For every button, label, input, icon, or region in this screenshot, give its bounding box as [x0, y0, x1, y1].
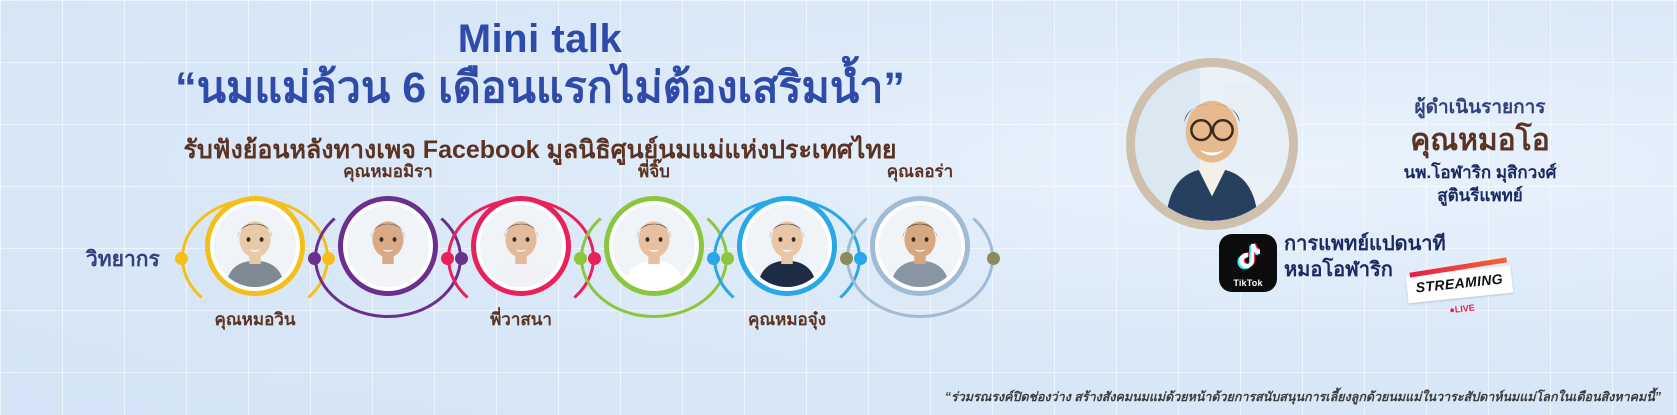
host-nickname: คุณหมอโอ: [1300, 124, 1660, 157]
streaming-badge: STREAMING ●LIVE: [1406, 266, 1513, 304]
title-line-1: Mini talk: [0, 18, 1080, 61]
host-photo-inner: [1135, 67, 1289, 221]
host-full-name: นพ.โอฬาริก มุสิกวงศ์: [1300, 162, 1660, 185]
connector-dot-right: [987, 252, 1000, 265]
connector-dot-left: [574, 252, 587, 265]
speaker-portrait-illustration: [613, 205, 695, 287]
speaker-avatar[interactable]: [338, 196, 438, 296]
title-line-2: “นมแม่ล้วน 6 เดือนแรกไม่ต้องเสริมน้ำ”: [0, 63, 1080, 114]
connector-dot-left: [175, 252, 188, 265]
speaker-avatar[interactable]: [471, 196, 571, 296]
speaker-portrait-illustration: [746, 205, 828, 287]
speaker-photo: [214, 205, 296, 287]
tiktok-icon[interactable]: TikTok: [1219, 234, 1277, 292]
speakers-row: คุณหมอวินคุณหมอมิราพี่วาสนาพี่จิ๊บคุณหมอ…: [0, 180, 1080, 345]
host-portrait-illustration: [1135, 67, 1289, 221]
connector-dot-left: [840, 252, 853, 265]
speaker-photo: [879, 205, 961, 287]
live-label: ●LIVE: [1409, 298, 1514, 319]
connector-dot-left: [707, 252, 720, 265]
speaker-node[interactable]: คุณลอร่า: [840, 180, 1000, 345]
speaker-portrait-illustration: [879, 205, 961, 287]
headline-block: Mini talk “นมแม่ล้วน 6 เดือนแรกไม่ต้องเส…: [0, 18, 1080, 170]
speaker-photo: [480, 205, 562, 287]
speaker-name: คุณลอร่า: [818, 158, 1022, 185]
speaker-photo: [746, 205, 828, 287]
connector-dot-left: [308, 252, 321, 265]
speaker-portrait-illustration: [214, 205, 296, 287]
footer-note: “ร่วมรณรงค์ปิดช่องว่าง สร้างสังคมนมแม่ด้…: [945, 387, 1661, 407]
tiktok-channel-line-1: การแพทย์แปดนาที: [1284, 232, 1446, 258]
speaker-photo: [613, 205, 695, 287]
speaker-avatar[interactable]: [870, 196, 970, 296]
connector-dot-left: [441, 252, 454, 265]
tiktok-wordmark: TikTok: [1219, 278, 1277, 288]
promo-banner: Mini talk “นมแม่ล้วน 6 เดือนแรกไม่ต้องเส…: [0, 0, 1677, 415]
host-role: ผู้ดำเนินรายการ: [1300, 92, 1660, 122]
speaker-photo: [347, 205, 429, 287]
host-specialty: สูตินรีแพทย์: [1300, 185, 1660, 208]
speaker-portrait-illustration: [347, 205, 429, 287]
host-avatar: [1126, 58, 1298, 230]
speaker-avatar[interactable]: [604, 196, 704, 296]
speaker-avatar[interactable]: [737, 196, 837, 296]
speaker-avatar[interactable]: [205, 196, 305, 296]
speaker-portrait-illustration: [480, 205, 562, 287]
host-info: ผู้ดำเนินรายการ คุณหมอโอ นพ.โอฬาริก มุสิ…: [1300, 92, 1660, 208]
tiktok-note-glyph: [1236, 242, 1260, 272]
